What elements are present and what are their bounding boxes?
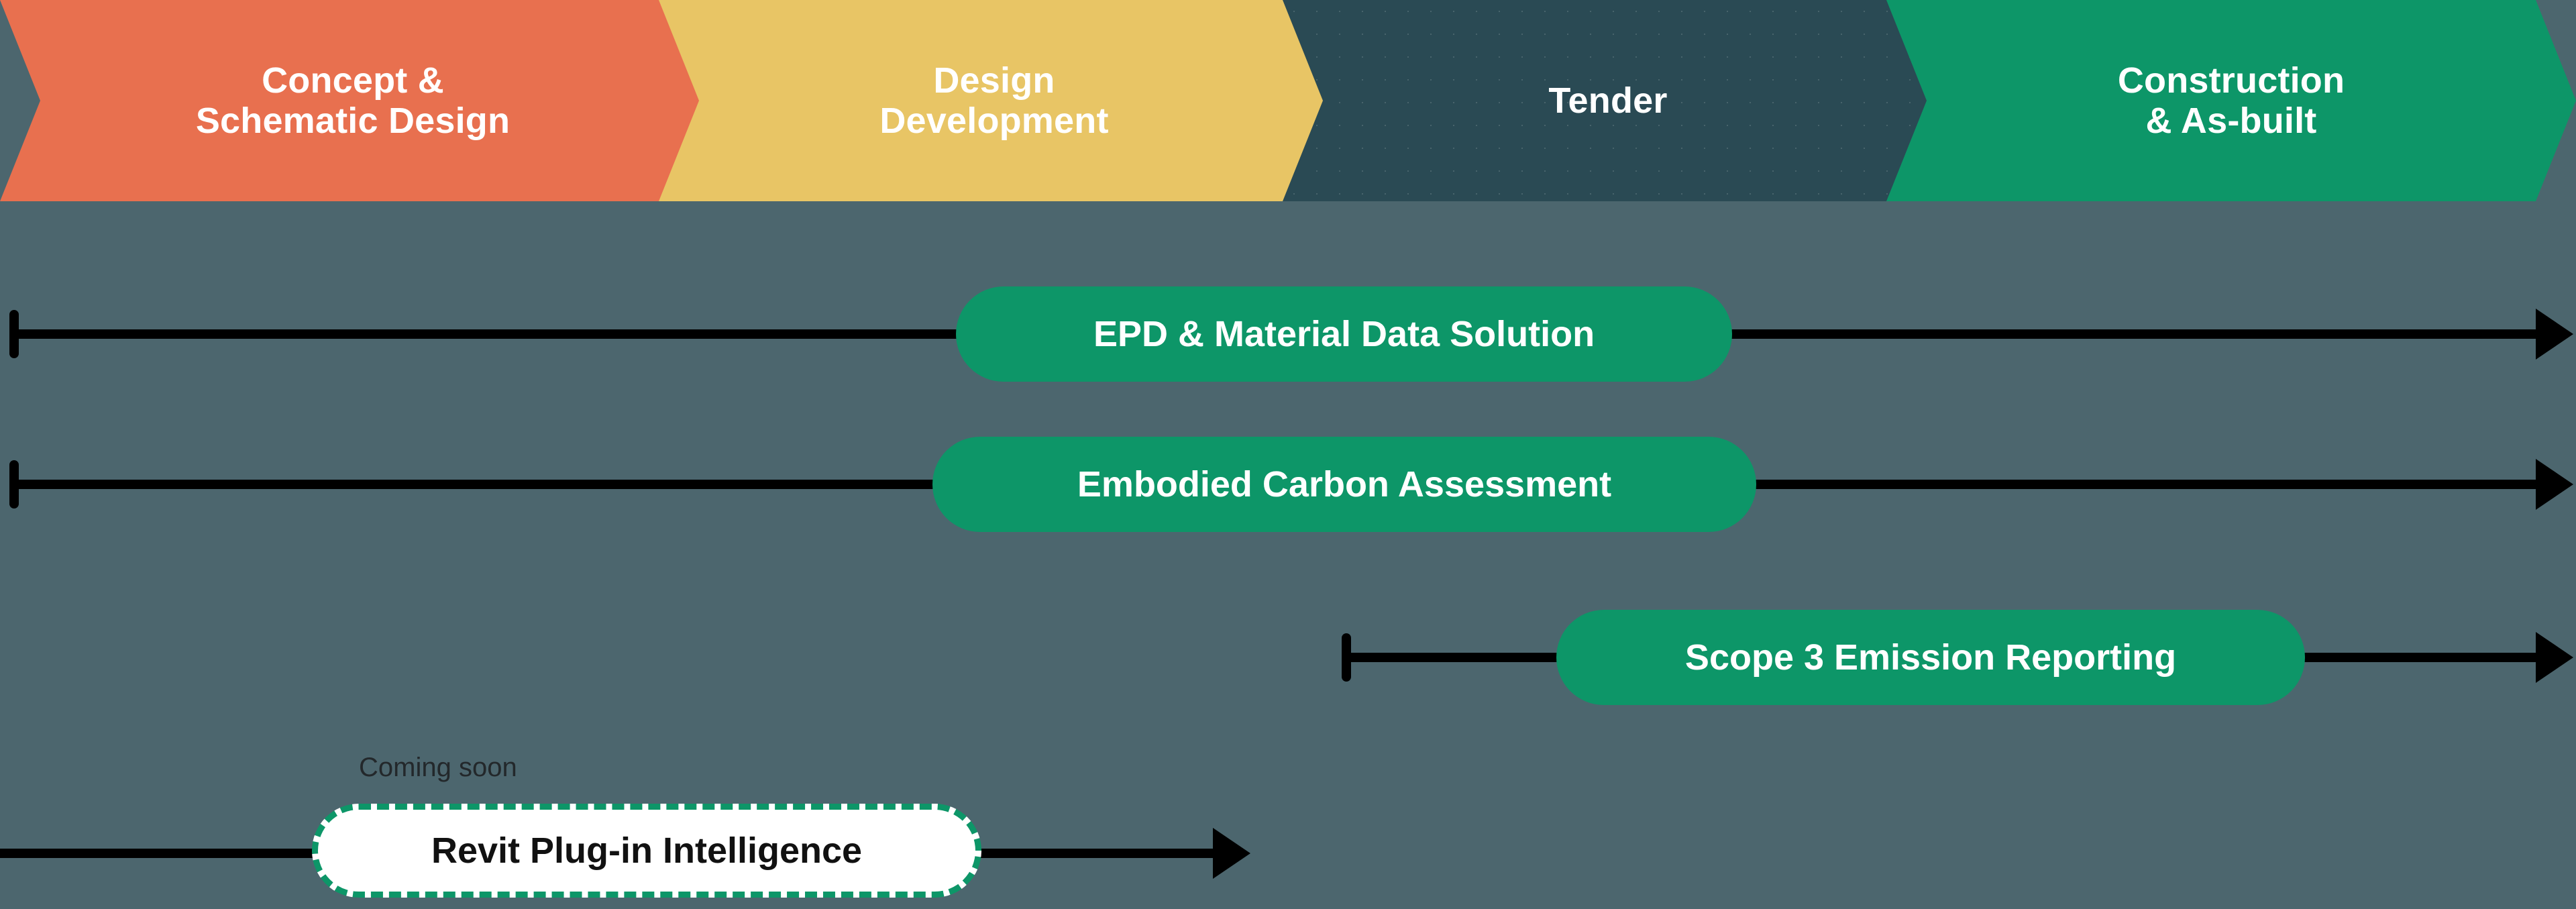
phase-label-construction-as-built: Construction & As-built	[2118, 60, 2345, 142]
phase-label-concept-schematic-design: Concept & Schematic Design	[196, 60, 510, 142]
phase-segment-design-development[interactable]: Design Development	[659, 0, 1330, 201]
solution-pill-label: Revit Plug-in Intelligence	[431, 830, 862, 871]
timeline-diagram: Concept & Schematic Design Design Develo…	[0, 0, 2576, 909]
phase-segment-construction-as-built[interactable]: Construction & As-built	[1886, 0, 2576, 201]
solution-pill-label: Embodied Carbon Assessment	[1077, 464, 1611, 505]
solution-pill-label: EPD & Material Data Solution	[1093, 313, 1595, 355]
track-end-arrow-icon	[1213, 828, 1250, 879]
solution-pill-embodied-carbon-assessment[interactable]: Embodied Carbon Assessment	[932, 437, 1756, 532]
track-end-arrow-icon	[2536, 632, 2573, 683]
phase-segment-concept-schematic-design[interactable]: Concept & Schematic Design	[0, 0, 706, 201]
phase-label-tender: Tender	[1548, 81, 1667, 121]
solution-pill-epd-material-data-solution[interactable]: EPD & Material Data Solution	[956, 286, 1732, 382]
coming-soon-note: Coming soon	[359, 753, 517, 783]
phase-banner: Concept & Schematic Design Design Develo…	[0, 0, 2576, 201]
solution-pill-revit-plug-in-intelligence[interactable]: Revit Plug-in Intelligence	[312, 804, 981, 898]
phase-label-design-development: Design Development	[879, 60, 1108, 142]
solution-pill-label: Scope 3 Emission Reporting	[1685, 637, 2176, 678]
solution-pill-scope-3-emission-reporting[interactable]: Scope 3 Emission Reporting	[1556, 610, 2305, 705]
phase-segment-tender[interactable]: Tender	[1283, 0, 1933, 201]
track-end-arrow-icon	[2536, 459, 2573, 510]
track-end-arrow-icon	[2536, 309, 2573, 360]
